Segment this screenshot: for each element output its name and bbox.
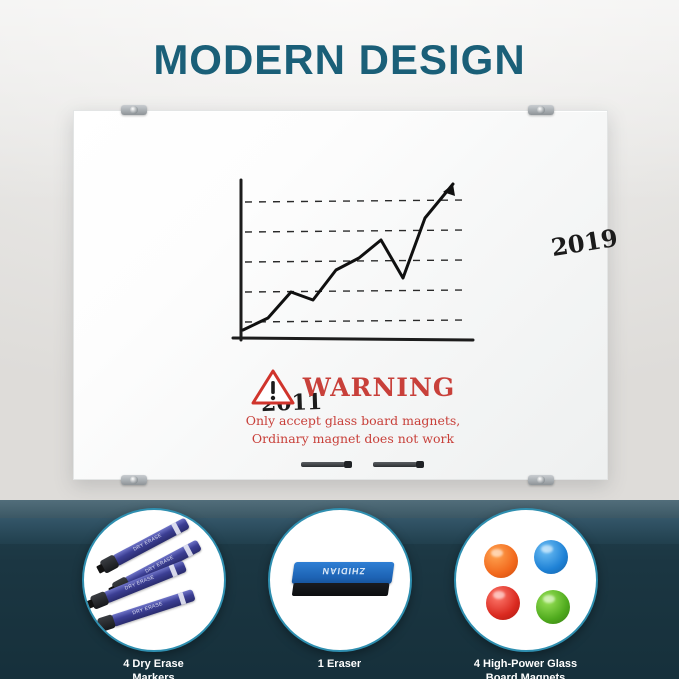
magnet-icon-blue	[534, 540, 568, 574]
accessory-magnets: 4 High-Power Glass Board Magnets	[451, 508, 601, 678]
warning-line-2: Ordinary magnet does not work	[223, 430, 483, 448]
mount-clip-top-left	[121, 105, 147, 115]
mount-clip-top-right	[528, 105, 554, 115]
markers-circle: DRY ERASE DRY ERASE DRY ERASE DRY ERASE	[82, 508, 226, 652]
marker-on-board-2	[373, 462, 417, 467]
line-chart-svg	[173, 170, 533, 400]
accessory-cards: DRY ERASE DRY ERASE DRY ERASE DRY ERASE	[0, 508, 679, 678]
marker-label: DRY ERASE	[131, 601, 163, 616]
warning-title: WARNING	[303, 373, 455, 402]
magnet-icon-orange	[484, 544, 518, 578]
warning-triangle-icon	[251, 368, 295, 406]
whiteboard: 2011 2019 WARNING Only accept glass boar…	[73, 110, 608, 480]
magnet-icon-green	[536, 590, 570, 624]
eraser-circle: ZHIDIAN	[268, 508, 412, 652]
marker-on-board-1	[301, 462, 345, 467]
chart-drawing: 2011 2019	[173, 170, 533, 400]
accessory-caption: 1 Eraser	[265, 658, 415, 672]
mount-clip-bottom-right	[528, 475, 554, 485]
marker-label: DRY ERASE	[132, 533, 163, 553]
accessory-caption: 4 Dry Erase Markers	[79, 658, 229, 679]
eraser-icon: ZHIDIAN	[289, 562, 394, 598]
eraser-brand: ZHIDIAN	[292, 566, 393, 576]
magnets-circle	[454, 508, 598, 652]
page-title: MODERN DESIGN	[0, 36, 679, 84]
accessory-eraser: ZHIDIAN 1 Eraser	[265, 508, 415, 678]
mount-clip-bottom-left	[121, 475, 147, 485]
accessory-markers: DRY ERASE DRY ERASE DRY ERASE DRY ERASE	[79, 508, 229, 678]
product-image: MODERN DESIGN	[0, 0, 679, 679]
warning-line-1: Only accept glass board magnets,	[223, 412, 483, 430]
accessory-caption: 4 High-Power Glass Board Magnets	[451, 658, 601, 679]
warning-block: WARNING Only accept glass board magnets,…	[223, 368, 483, 448]
whiteboard-scene: MODERN DESIGN	[0, 0, 679, 510]
accessories-strip: DRY ERASE DRY ERASE DRY ERASE DRY ERASE	[0, 500, 679, 679]
magnet-icon-red	[486, 586, 520, 620]
warning-lines: Only accept glass board magnets, Ordinar…	[223, 412, 483, 448]
